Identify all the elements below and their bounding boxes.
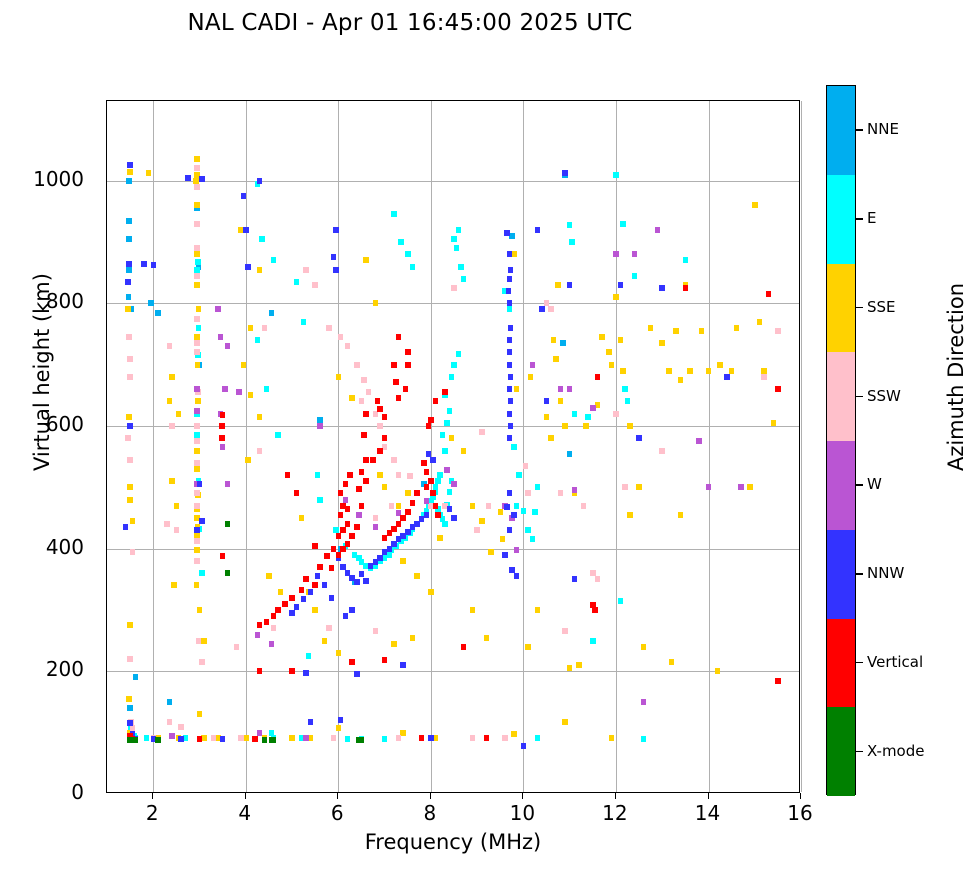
scatter-point <box>632 273 638 279</box>
scatter-point <box>393 379 399 385</box>
scatter-point <box>544 398 550 404</box>
colorbar-segment-vertical <box>827 619 855 708</box>
scatter-point <box>486 503 492 509</box>
scatter-point <box>678 377 684 383</box>
scatter-point <box>424 469 430 475</box>
scatter-point <box>405 251 411 257</box>
scatter-point <box>548 306 554 312</box>
scatter-point <box>194 221 200 227</box>
scatter-point <box>666 368 672 374</box>
scatter-point <box>194 423 200 429</box>
scatter-point <box>442 521 448 527</box>
colorbar-tick <box>856 129 863 131</box>
scatter-point <box>382 484 388 490</box>
scatter-point <box>535 484 541 490</box>
scatter-point <box>734 325 740 331</box>
scatter-point <box>382 736 388 742</box>
colorbar-tick <box>856 307 863 309</box>
scatter-point <box>370 457 376 463</box>
scatter-point <box>590 638 596 644</box>
scatter-point <box>361 377 367 383</box>
scatter-point <box>303 267 309 273</box>
scatter-point <box>508 325 514 331</box>
scatter-point <box>336 650 342 656</box>
scatter-point <box>532 509 538 515</box>
scatter-point <box>133 674 139 680</box>
scatter-point <box>396 503 402 509</box>
scatter-point <box>194 558 200 564</box>
scatter-point <box>627 423 633 429</box>
x-tick-label: 10 <box>492 801 552 825</box>
scatter-point <box>294 490 300 496</box>
scatter-point <box>345 343 351 349</box>
scatter-point <box>194 202 200 208</box>
scatter-point <box>329 595 335 601</box>
x-tick-mark <box>152 793 153 799</box>
scatter-point <box>219 435 225 441</box>
scatter-point <box>127 497 133 503</box>
x-tick-label: 16 <box>770 801 830 825</box>
scatter-point <box>382 535 388 541</box>
scatter-point <box>199 518 205 524</box>
colorbar-label-nne: NNE <box>867 120 899 138</box>
scatter-point <box>127 705 133 711</box>
scatter-point <box>398 239 404 245</box>
scatter-point <box>424 498 430 504</box>
scatter-point <box>329 565 335 571</box>
scatter-point <box>349 659 355 665</box>
scatter-point <box>289 595 295 601</box>
scatter-point <box>507 251 513 257</box>
scatter-point <box>312 607 318 613</box>
scatter-point <box>535 735 541 741</box>
scatter-point <box>345 521 351 527</box>
scatter-point <box>508 423 514 429</box>
scatter-point <box>169 374 175 380</box>
scatter-point <box>706 368 712 374</box>
scatter-point <box>218 334 224 340</box>
scatter-point <box>430 490 436 496</box>
scatter-point <box>199 176 205 182</box>
colorbar-label-ssw: SSW <box>867 387 901 405</box>
scatter-point <box>508 398 514 404</box>
scatter-point <box>451 236 457 242</box>
scatter-point <box>194 460 200 466</box>
scatter-point <box>474 527 480 533</box>
scatter-point <box>303 735 309 741</box>
scatter-point <box>567 451 573 457</box>
scatter-point <box>410 635 416 641</box>
scatter-point <box>500 536 506 542</box>
scatter-point <box>407 473 413 479</box>
scatter-point <box>126 334 132 340</box>
scatter-point <box>194 340 200 346</box>
x-tick-label: 14 <box>678 801 738 825</box>
scatter-point <box>255 337 261 343</box>
scatter-point <box>572 576 578 582</box>
scatter-point <box>444 420 450 426</box>
scatter-point <box>257 267 263 273</box>
scatter-point <box>275 432 281 438</box>
scatter-point <box>377 406 383 412</box>
y-tick-label: 200 <box>14 657 84 681</box>
scatter-point <box>572 487 578 493</box>
scatter-point <box>225 521 231 527</box>
scatter-point <box>338 334 344 340</box>
scatter-point <box>562 170 568 176</box>
scatter-point <box>363 478 369 484</box>
scatter-point <box>641 699 647 705</box>
scatter-point <box>194 538 200 544</box>
scatter-point <box>127 737 133 743</box>
scatter-point <box>259 236 265 242</box>
scatter-point <box>669 659 675 665</box>
scatter-point <box>567 222 573 228</box>
scatter-point <box>562 423 568 429</box>
scatter-point <box>539 306 545 312</box>
scatter-point <box>511 512 517 518</box>
scatter-point <box>345 506 351 512</box>
scatter-point <box>174 503 180 509</box>
scatter-point <box>169 733 175 739</box>
scatter-point <box>336 533 342 539</box>
scatter-point <box>521 743 527 749</box>
scatter-point <box>194 547 200 553</box>
scatter-point <box>516 472 522 478</box>
scatter-point <box>659 448 665 454</box>
scatter-point <box>199 570 205 576</box>
scatter-point <box>506 288 512 294</box>
scatter-point <box>194 334 200 340</box>
scatter-point <box>391 457 397 463</box>
scatter-point <box>620 221 626 227</box>
scatter-point <box>508 374 514 380</box>
scatter-point <box>717 362 723 368</box>
scatter-point <box>241 362 247 368</box>
scatter-point <box>451 362 457 368</box>
y-tick-label: 0 <box>14 780 84 804</box>
scatter-point <box>194 448 200 454</box>
scatter-point <box>410 500 416 506</box>
scatter-point <box>194 273 200 279</box>
scatter-point <box>340 527 346 533</box>
scatter-point <box>317 564 323 570</box>
scatter-point <box>326 325 332 331</box>
scatter-point <box>428 417 434 423</box>
scatter-point <box>169 423 175 429</box>
colorbar-label-e: E <box>867 209 876 227</box>
scatter-point <box>382 657 388 663</box>
scatter-point <box>373 515 379 521</box>
scatter-point <box>590 405 596 411</box>
scatter-point <box>185 175 191 181</box>
scatter-point <box>620 368 626 374</box>
scatter-point <box>196 306 202 312</box>
scatter-point <box>126 178 132 184</box>
scatter-point <box>194 251 200 257</box>
colorbar-tick <box>856 662 863 664</box>
scatter-point <box>414 573 420 579</box>
scatter-point <box>641 644 647 650</box>
scatter-point <box>507 337 513 343</box>
scatter-point <box>363 457 369 463</box>
scatter-point <box>451 481 457 487</box>
colorbar-label-x-mode: X-mode <box>867 742 924 760</box>
scatter-point <box>687 368 693 374</box>
scatter-point <box>127 656 133 662</box>
scatter-point <box>349 533 355 539</box>
colorbar-label-nnw: NNW <box>867 564 904 582</box>
scatter-point <box>144 735 150 741</box>
scatter-point <box>521 508 527 514</box>
scatter-point <box>396 395 402 401</box>
scatter-point <box>331 546 337 552</box>
scatter-point <box>303 670 309 676</box>
scatter-point <box>336 552 342 558</box>
scatter-point <box>470 607 476 613</box>
scatter-point <box>306 653 312 659</box>
scatter-point <box>470 735 476 741</box>
scatter-point <box>126 294 132 300</box>
scatter-point <box>252 736 258 742</box>
scatter-point <box>130 518 136 524</box>
scatter-point <box>127 162 133 168</box>
scatter-point <box>373 628 379 634</box>
scatter-point <box>197 711 203 717</box>
scatter-point <box>488 549 494 555</box>
scatter-point <box>289 610 295 616</box>
scatter-point <box>391 641 397 647</box>
scatter-point <box>511 444 517 450</box>
scatter-point <box>569 239 575 245</box>
scatter-point <box>678 512 684 518</box>
scatter-point <box>303 576 309 582</box>
scatter-point <box>234 644 240 650</box>
scatter-point <box>766 291 772 297</box>
scatter-point <box>196 325 202 331</box>
scatter-point <box>426 423 432 429</box>
scatter-point <box>220 412 226 418</box>
scatter-point <box>567 386 573 392</box>
scatter-point <box>775 328 781 334</box>
scatter-point <box>636 435 642 441</box>
scatter-point <box>562 628 568 634</box>
scatter-point <box>289 735 295 741</box>
scatter-point <box>194 386 200 392</box>
scatter-point <box>405 490 411 496</box>
scatter-point <box>354 524 360 530</box>
scatter-point <box>484 735 490 741</box>
scatter-point <box>194 408 200 414</box>
scatter-point <box>382 414 388 420</box>
scatter-point <box>155 737 161 743</box>
scatter-point <box>257 668 263 674</box>
scatter-point <box>752 202 758 208</box>
scatter-point <box>581 503 587 509</box>
scatter-point <box>257 414 263 420</box>
scatter-point <box>405 349 411 355</box>
scatter-point <box>528 374 534 380</box>
scatter-point <box>389 503 395 509</box>
scatter-point <box>514 386 520 392</box>
scatter-point <box>248 325 254 331</box>
plot-area <box>106 100 800 793</box>
scatter-point <box>454 245 460 251</box>
scatter-point <box>498 509 504 515</box>
colorbar-segment-w <box>827 441 855 530</box>
scatter-point <box>433 398 439 404</box>
scatter-point <box>349 607 355 613</box>
scatter-point <box>507 490 513 496</box>
scatter-point <box>333 227 339 233</box>
scatter-point <box>271 737 277 743</box>
scatter-point <box>655 227 661 233</box>
scatter-point <box>609 735 615 741</box>
scatter-point <box>359 469 365 475</box>
scatter-point <box>576 662 582 668</box>
scatter-point <box>167 699 173 705</box>
scatter-point <box>333 267 339 273</box>
scatter-point <box>317 417 323 423</box>
scatter-point <box>197 607 203 613</box>
scatter-point <box>437 535 443 541</box>
scatter-point <box>312 543 318 549</box>
scatter-point <box>625 398 631 404</box>
scatter-point <box>613 411 619 417</box>
scatter-point <box>592 607 598 613</box>
scatter-point <box>271 613 277 619</box>
x-tick-label: 2 <box>122 801 182 825</box>
scatter-point <box>437 472 443 478</box>
scatter-point <box>551 337 557 343</box>
scatter-point <box>514 573 520 579</box>
colorbar-label-w: W <box>867 475 882 493</box>
scatter-point <box>243 227 249 233</box>
scatter-point <box>220 444 226 450</box>
scatter-point <box>706 484 712 490</box>
scatter-point <box>410 264 416 270</box>
scatter-point <box>125 435 131 441</box>
scatter-point <box>354 579 360 585</box>
scatter-point <box>338 512 344 518</box>
scatter-point <box>315 472 321 478</box>
scatter-point <box>317 497 323 503</box>
scatter-point <box>126 261 132 267</box>
scatter-point <box>400 662 406 668</box>
scatter-point <box>195 362 201 368</box>
scatter-point <box>562 719 568 725</box>
scatter-point <box>336 374 342 380</box>
x-tick-label: 8 <box>400 801 460 825</box>
colorbar-tick <box>856 573 863 575</box>
scatter-point <box>507 306 513 312</box>
scatter-point <box>194 245 200 251</box>
x-tick-label: 6 <box>307 801 367 825</box>
colorbar-tick <box>856 396 863 398</box>
scatter-point <box>363 257 369 263</box>
scatter-point <box>324 553 330 559</box>
scatter-point <box>428 735 434 741</box>
scatter-point <box>225 343 231 349</box>
scatter-point <box>338 490 344 496</box>
scatter-point <box>507 300 513 306</box>
scatter-point <box>544 414 550 420</box>
scatter-point <box>414 490 420 496</box>
scatter-point <box>377 555 383 561</box>
scatter-point <box>484 635 490 641</box>
scatter-point <box>567 282 573 288</box>
scatter-point <box>178 736 184 742</box>
scatter-point <box>366 389 372 395</box>
scatter-point <box>347 472 353 478</box>
scatter-point <box>155 310 161 316</box>
scatter-point <box>738 484 744 490</box>
scatter-point <box>508 267 514 273</box>
scatter-point <box>301 596 307 602</box>
scatter-point <box>683 257 689 263</box>
scatter-point <box>525 527 531 533</box>
scatter-point <box>125 306 131 312</box>
scatter-point <box>424 512 430 518</box>
scatter-point <box>461 448 467 454</box>
scatter-point <box>618 282 624 288</box>
scatter-point <box>222 386 228 392</box>
scatter-point <box>278 589 284 595</box>
scatter-point <box>125 279 131 285</box>
scatter-point <box>236 389 242 395</box>
scatter-points-layer <box>107 101 799 792</box>
scatter-point <box>456 227 462 233</box>
scatter-point <box>201 638 207 644</box>
scatter-point <box>343 481 349 487</box>
x-axis-label: Frequency (MHz) <box>106 830 800 854</box>
scatter-point <box>194 438 200 444</box>
scatter-point <box>148 300 154 306</box>
scatter-point <box>405 509 411 515</box>
scatter-point <box>618 598 624 604</box>
scatter-point <box>340 546 346 552</box>
scatter-point <box>514 547 520 553</box>
scatter-point <box>197 736 203 742</box>
scatter-point <box>433 503 439 509</box>
scatter-point <box>220 736 226 742</box>
gridline-vertical <box>801 101 802 792</box>
scatter-point <box>264 386 270 392</box>
scatter-point <box>504 230 510 236</box>
scatter-point <box>613 251 619 257</box>
scatter-point <box>435 478 441 484</box>
scatter-point <box>225 481 231 487</box>
scatter-point <box>775 678 781 684</box>
scatter-point <box>127 169 133 175</box>
scatter-point <box>359 398 365 404</box>
scatter-point <box>194 466 200 472</box>
scatter-point <box>317 423 323 429</box>
scatter-point <box>447 408 453 414</box>
scatter-point <box>456 351 462 357</box>
scatter-point <box>595 374 601 380</box>
scatter-point <box>451 285 457 291</box>
scatter-point <box>356 486 362 492</box>
scatter-point <box>442 448 448 454</box>
scatter-point <box>391 362 397 368</box>
scatter-point <box>238 735 244 741</box>
scatter-point <box>164 521 170 527</box>
scatter-point <box>377 423 383 429</box>
scatter-point <box>761 374 767 380</box>
scatter-point <box>127 484 133 490</box>
scatter-point <box>424 484 430 490</box>
